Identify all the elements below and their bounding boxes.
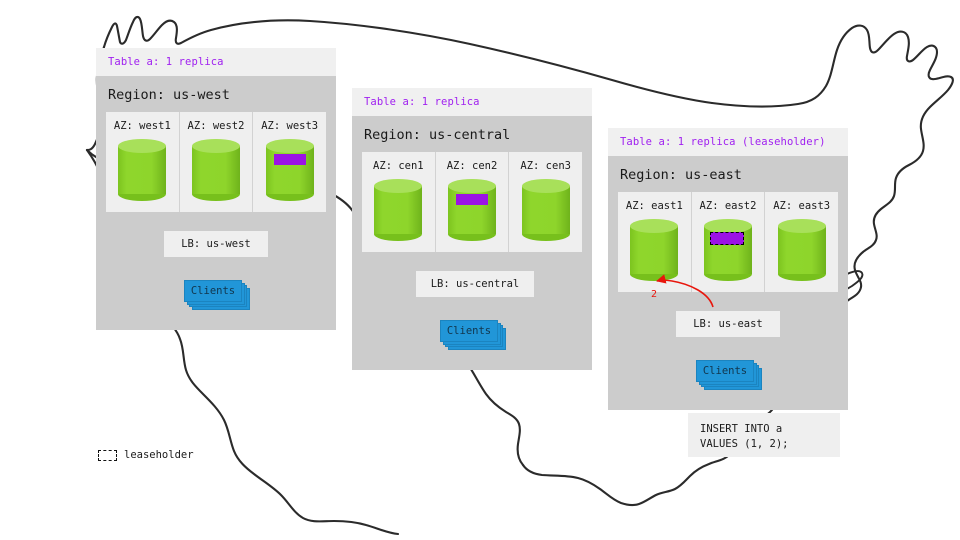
- cylinder-top: [266, 139, 314, 153]
- legend-label: leaseholder: [124, 449, 194, 461]
- clients-button-label[interactable]: Clients: [696, 360, 754, 382]
- cylinder-top: [704, 219, 752, 233]
- az-row-us-west: AZ: west1 AZ: west2 AZ: west3: [106, 112, 326, 212]
- az-row-us-east: AZ: east1 AZ: east2 AZ: east3: [618, 192, 838, 292]
- az-cell-east3[interactable]: AZ: east3: [764, 192, 838, 292]
- az-label-west1: AZ: west1: [106, 112, 179, 132]
- clients-stack-us-central[interactable]: Clients: [440, 320, 498, 342]
- node-cylinder-west1[interactable]: [118, 139, 166, 201]
- diagram-canvas: Table a: 1 replica Region: us-west AZ: w…: [0, 0, 960, 540]
- cylinder-body: [522, 186, 570, 234]
- az-cell-west2[interactable]: AZ: west2: [179, 112, 253, 212]
- annotation-step-2-label: 2: [651, 289, 657, 300]
- node-cylinder-cen2[interactable]: [448, 179, 496, 241]
- clients-button-label[interactable]: Clients: [184, 280, 242, 302]
- cylinder-top: [192, 139, 240, 153]
- node-cylinder-east2[interactable]: [704, 219, 752, 281]
- az-cell-cen1[interactable]: AZ: cen1: [362, 152, 435, 252]
- az-label-west2: AZ: west2: [180, 112, 253, 132]
- node-cylinder-west3[interactable]: [266, 139, 314, 201]
- load-balancer-us-central[interactable]: LB: us-central: [416, 271, 534, 297]
- cylinder-body: [118, 146, 166, 194]
- az-label-east1: AZ: east1: [618, 192, 691, 212]
- sql-statement-box: INSERT INTO a VALUES (1, 2);: [688, 413, 840, 457]
- cylinder-top: [374, 179, 422, 193]
- replica-block-leaseholder-east2: [710, 232, 744, 245]
- cylinder-top: [448, 179, 496, 193]
- az-cell-east1[interactable]: AZ: east1: [618, 192, 691, 292]
- cylinder-top: [118, 139, 166, 153]
- az-cell-west1[interactable]: AZ: west1: [106, 112, 179, 212]
- node-cylinder-cen1[interactable]: [374, 179, 422, 241]
- node-cylinder-cen3[interactable]: [522, 179, 570, 241]
- region-title-us-east: Region: us-east: [608, 156, 848, 192]
- clients-button-label[interactable]: Clients: [440, 320, 498, 342]
- region-panel-us-west: Table a: 1 replica Region: us-west AZ: w…: [96, 48, 336, 330]
- region-panel-us-central: Table a: 1 replica Region: us-central AZ…: [352, 88, 592, 370]
- cylinder-body: [374, 186, 422, 234]
- az-label-cen3: AZ: cen3: [509, 152, 582, 172]
- dashed-rectangle-icon: [98, 450, 117, 461]
- node-cylinder-east1[interactable]: [630, 219, 678, 281]
- az-label-cen2: AZ: cen2: [436, 152, 509, 172]
- replica-block-cen2: [456, 194, 488, 205]
- az-cell-east2[interactable]: AZ: east2: [691, 192, 765, 292]
- clients-stack-us-west[interactable]: Clients: [184, 280, 242, 302]
- az-cell-west3[interactable]: AZ: west3: [252, 112, 326, 212]
- cylinder-body: [630, 226, 678, 274]
- az-row-us-central: AZ: cen1 AZ: cen2 AZ: cen3: [362, 152, 582, 252]
- legend-leaseholder: leaseholder: [98, 449, 194, 461]
- az-cell-cen2[interactable]: AZ: cen2: [435, 152, 509, 252]
- cylinder-top: [522, 179, 570, 193]
- node-cylinder-west2[interactable]: [192, 139, 240, 201]
- cylinder-body: [192, 146, 240, 194]
- load-balancer-us-west[interactable]: LB: us-west: [164, 231, 268, 257]
- panel-header-us-west: Table a: 1 replica: [96, 48, 336, 76]
- cylinder-top: [778, 219, 826, 233]
- region-title-us-west: Region: us-west: [96, 76, 336, 112]
- az-cell-cen3[interactable]: AZ: cen3: [508, 152, 582, 252]
- cylinder-body: [778, 226, 826, 274]
- panel-header-us-east: Table a: 1 replica (leaseholder): [608, 128, 848, 156]
- replica-block-west3: [274, 154, 306, 165]
- az-label-west3: AZ: west3: [253, 112, 326, 132]
- az-label-east3: AZ: east3: [765, 192, 838, 212]
- clients-stack-us-east[interactable]: Clients: [696, 360, 754, 382]
- az-label-east2: AZ: east2: [692, 192, 765, 212]
- load-balancer-us-east[interactable]: LB: us-east: [676, 311, 780, 337]
- cylinder-top: [630, 219, 678, 233]
- region-panel-us-east: Table a: 1 replica (leaseholder) Region:…: [608, 128, 848, 410]
- region-title-us-central: Region: us-central: [352, 116, 592, 152]
- az-label-cen1: AZ: cen1: [362, 152, 435, 172]
- node-cylinder-east3[interactable]: [778, 219, 826, 281]
- panel-header-us-central: Table a: 1 replica: [352, 88, 592, 116]
